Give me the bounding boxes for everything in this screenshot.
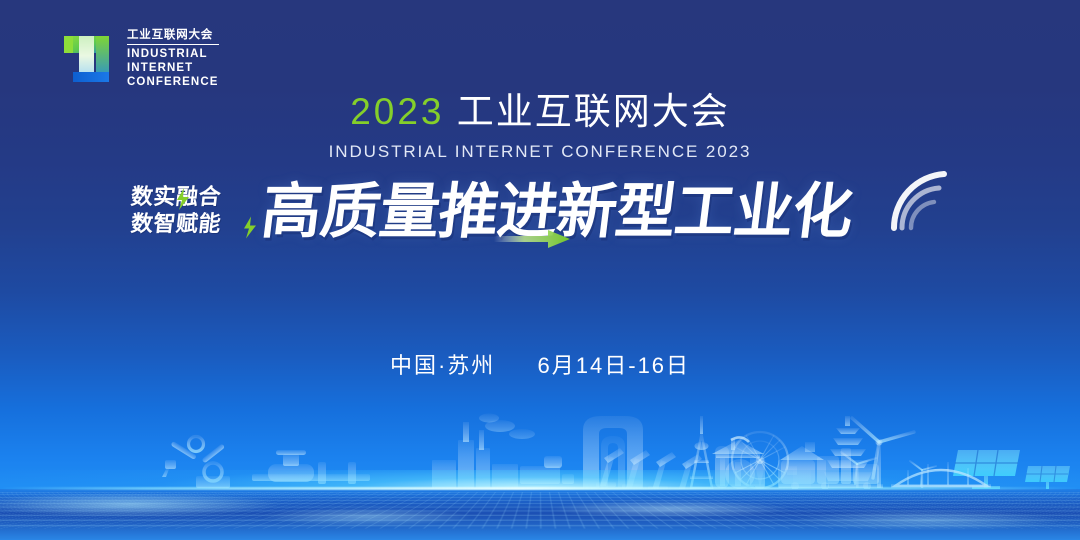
- conference-t-i-monogram-icon: [56, 28, 116, 90]
- event-location: 中国·苏州: [390, 353, 495, 378]
- slogan-block: 数实融合 数智赋能 高质量推进新型工业化: [0, 182, 1080, 282]
- event-title-block: 2023 工业互联网大会 INDUSTRIAL INTERNET CONFERE…: [0, 92, 1080, 162]
- bridge-icon: [891, 462, 991, 488]
- conference-banner: 工业互联网大会 INDUSTRIAL INTERNET CONFERENCE 2…: [0, 0, 1080, 540]
- logo-english-line-2: INTERNET: [127, 63, 219, 75]
- lightning-bolt-icon: [176, 188, 190, 210]
- conference-logo: 工业互联网大会 INDUSTRIAL INTERNET CONFERENCE: [56, 28, 219, 90]
- horizon-line: [0, 487, 1080, 490]
- event-dates: 6月14日-16日: [538, 353, 691, 378]
- page-title: 2023 工业互联网大会: [0, 92, 1080, 133]
- event-details: 中国·苏州 6月14日-16日: [0, 348, 1080, 380]
- train-icon: [779, 448, 883, 490]
- lightning-bolt-icon: [243, 216, 257, 239]
- title-subtitle-english: INDUSTRIAL INTERNET CONFERENCE 2023: [0, 142, 1080, 162]
- logo-english-line-1: INDUSTRIAL: [127, 49, 219, 61]
- slogan-small-line-2: 数智赋能: [130, 213, 222, 235]
- skyline-right-extension: [0, 398, 1080, 490]
- wifi-signal-icon: [886, 166, 952, 236]
- logo-english-line-3: CONFERENCE: [127, 77, 219, 89]
- title-year: 2023: [350, 91, 444, 132]
- logo-chinese-name: 工业互联网大会: [127, 30, 219, 45]
- green-arrow-icon: [494, 228, 572, 250]
- gas-tank-icon: [715, 437, 765, 489]
- title-name-chinese: 工业互联网大会: [457, 91, 730, 132]
